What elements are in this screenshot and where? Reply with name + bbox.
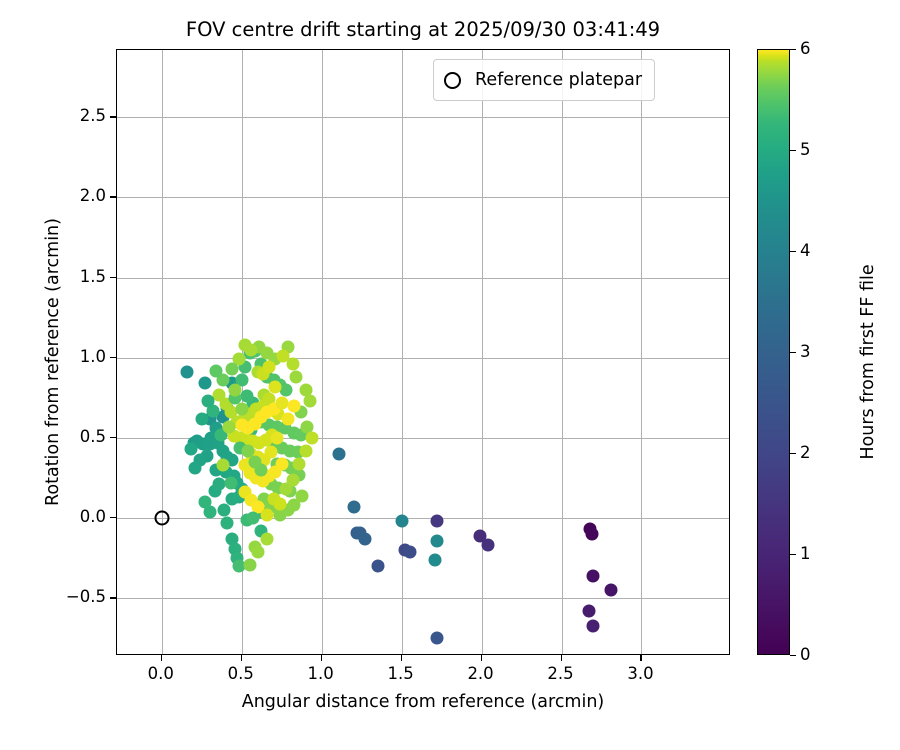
scatter-point bbox=[286, 473, 299, 486]
scatter-point bbox=[430, 534, 443, 547]
x-tick bbox=[401, 655, 402, 661]
x-tick-label: 0.0 bbox=[148, 666, 174, 683]
scatter-point bbox=[587, 619, 600, 632]
legend-entry-label: Reference platepar bbox=[475, 70, 642, 90]
x-tick bbox=[241, 655, 242, 661]
colorbar-tick-label: 6 bbox=[800, 41, 811, 58]
scatter-point bbox=[358, 532, 371, 545]
gridline-horizontal bbox=[117, 197, 729, 198]
scatter-point bbox=[242, 444, 255, 457]
scatter-point bbox=[261, 508, 274, 521]
scatter-point bbox=[275, 457, 288, 470]
scatter-point bbox=[430, 632, 443, 645]
x-tick-label: 1.5 bbox=[387, 666, 413, 683]
y-tick-label: 0.0 bbox=[80, 509, 106, 526]
gridline-vertical bbox=[322, 50, 323, 654]
scatter-point bbox=[304, 395, 317, 408]
colorbar-tick bbox=[790, 655, 796, 656]
scatter-point bbox=[224, 476, 237, 489]
y-tick bbox=[110, 196, 116, 197]
x-tick-label: 2.5 bbox=[547, 666, 573, 683]
scatter-point bbox=[222, 420, 235, 433]
gridline-horizontal bbox=[117, 278, 729, 279]
y-tick-label: 1.0 bbox=[80, 349, 106, 366]
figure-canvas: FOV centre drift starting at 2025/09/30 … bbox=[0, 0, 900, 750]
scatter-point bbox=[282, 412, 295, 425]
y-tick bbox=[110, 357, 116, 358]
y-tick bbox=[110, 277, 116, 278]
scatter-point bbox=[269, 380, 282, 393]
scatter-point bbox=[262, 361, 275, 374]
scatter-point bbox=[198, 377, 211, 390]
plot-area bbox=[116, 49, 730, 655]
scatter-point bbox=[347, 500, 360, 513]
colorbar-tick bbox=[790, 150, 796, 151]
colorbar-tick bbox=[790, 352, 796, 353]
scatter-point bbox=[221, 516, 234, 529]
y-tick bbox=[110, 116, 116, 117]
colorbar-tick bbox=[790, 251, 796, 252]
scatter-point bbox=[218, 504, 231, 517]
x-tick bbox=[640, 655, 641, 661]
colorbar-label: Hours from first FF file bbox=[858, 59, 878, 665]
reference-platepar-marker bbox=[154, 511, 169, 526]
x-tick bbox=[161, 655, 162, 661]
scatter-point bbox=[184, 443, 197, 456]
gridline-vertical bbox=[482, 50, 483, 654]
scatter-point bbox=[280, 383, 293, 396]
scatter-point bbox=[274, 497, 287, 510]
gridline-horizontal bbox=[117, 518, 729, 519]
scatter-point bbox=[251, 545, 264, 558]
x-axis-label: Angular distance from reference (arcmin) bbox=[116, 692, 730, 712]
colorbar-tick-label: 1 bbox=[800, 546, 811, 563]
x-tick-label: 1.0 bbox=[308, 666, 334, 683]
colorbar-tick-label: 0 bbox=[800, 647, 811, 664]
colorbar-tick-label: 4 bbox=[800, 243, 811, 260]
scatter-point bbox=[181, 366, 194, 379]
x-tick bbox=[561, 655, 562, 661]
colorbar-tick-label: 5 bbox=[800, 142, 811, 159]
scatter-point bbox=[198, 496, 211, 509]
colorbar-tick-label: 3 bbox=[800, 344, 811, 361]
scatter-point bbox=[306, 431, 319, 444]
y-tick-label: −0.5 bbox=[66, 589, 106, 606]
scatter-point bbox=[275, 396, 288, 409]
y-tick bbox=[110, 597, 116, 598]
scatter-point bbox=[243, 558, 256, 571]
scatter-point bbox=[202, 395, 215, 408]
gridline-horizontal bbox=[117, 598, 729, 599]
scatter-point bbox=[264, 446, 277, 459]
scatter-point bbox=[481, 539, 494, 552]
scatter-point bbox=[403, 545, 416, 558]
scatter-point bbox=[605, 584, 618, 597]
scatter-point bbox=[293, 457, 306, 470]
gridline-vertical bbox=[162, 50, 163, 654]
scatter-point bbox=[290, 371, 303, 384]
scatter-point bbox=[395, 515, 408, 528]
scatter-point bbox=[270, 431, 283, 444]
colorbar-gradient bbox=[757, 49, 790, 655]
scatter-point bbox=[248, 456, 261, 469]
scatter-point bbox=[261, 532, 274, 545]
scatter-point bbox=[195, 412, 208, 425]
scatter-point bbox=[288, 399, 301, 412]
x-tick-label: 0.5 bbox=[228, 666, 254, 683]
scatter-point bbox=[371, 560, 384, 573]
x-tick-label: 2.0 bbox=[467, 666, 493, 683]
scatter-point bbox=[430, 515, 443, 528]
scatter-point bbox=[277, 350, 290, 363]
gridline-horizontal bbox=[117, 117, 729, 118]
gridline-horizontal bbox=[117, 358, 729, 359]
colorbar-tick bbox=[790, 49, 796, 50]
x-tick bbox=[481, 655, 482, 661]
y-tick-label: 1.5 bbox=[80, 268, 106, 285]
legend: Reference platepar bbox=[433, 59, 655, 101]
page-title: FOV centre drift starting at 2025/09/30 … bbox=[116, 18, 730, 42]
x-tick-label: 3.0 bbox=[627, 666, 653, 683]
y-tick bbox=[110, 517, 116, 518]
scatter-point bbox=[216, 459, 229, 472]
y-axis-label: Rotation from reference (arcmin) bbox=[43, 59, 63, 665]
scatter-point bbox=[582, 605, 595, 618]
colorbar-tick bbox=[790, 554, 796, 555]
y-tick-label: 2.5 bbox=[80, 108, 106, 125]
scatter-point bbox=[585, 528, 598, 541]
colorbar-tick-label: 2 bbox=[800, 445, 811, 462]
scatter-point bbox=[189, 462, 202, 475]
gridline-vertical bbox=[641, 50, 642, 654]
scatter-point bbox=[296, 489, 309, 502]
y-tick bbox=[110, 437, 116, 438]
scatter-point bbox=[429, 553, 442, 566]
scatter-point bbox=[229, 383, 242, 396]
colorbar-tick bbox=[790, 453, 796, 454]
gridline-vertical bbox=[562, 50, 563, 654]
scatter-point bbox=[299, 444, 312, 457]
x-tick bbox=[321, 655, 322, 661]
scatter-point bbox=[240, 390, 253, 403]
scatter-point bbox=[246, 512, 259, 525]
scatter-point bbox=[333, 448, 346, 461]
scatter-point bbox=[587, 569, 600, 582]
gridline-vertical bbox=[402, 50, 403, 654]
scatter-point bbox=[235, 403, 248, 416]
y-tick-label: 0.5 bbox=[80, 429, 106, 446]
open-circle-icon bbox=[444, 72, 461, 89]
scatter-point bbox=[210, 364, 223, 377]
scatter-point bbox=[245, 343, 258, 356]
scatter-point bbox=[226, 363, 239, 376]
y-tick-label: 2.0 bbox=[80, 188, 106, 205]
